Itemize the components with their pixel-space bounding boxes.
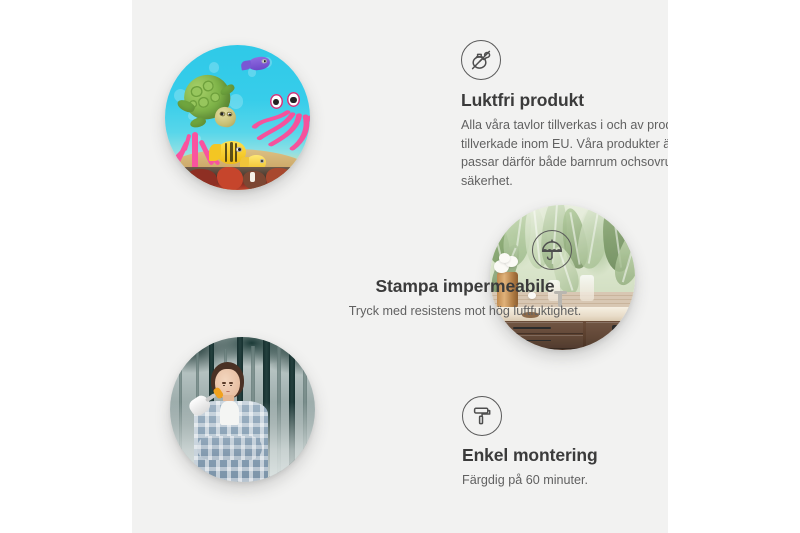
feature-title: Luktfri produkt [461,90,668,112]
forest-mural-photo [170,337,315,482]
octopus-figure [248,77,310,161]
feature-body: Färgdig på 60 minuter. [462,471,668,490]
infographic-canvas: Luktfri produkt Alla våra tavlor tillver… [0,0,800,533]
feature-body: Tryck med resistens mot hög luftfuktighe… [320,302,610,321]
feature-image-easy-mount [170,337,315,482]
feature-block-waterproof: Stampa impermeabile Tryck med resistens … [320,230,610,321]
no-fragrance-icon [461,40,501,80]
adjacent-artwork-sliver [182,167,298,190]
paint-roller-icon [462,396,502,436]
underwater-illustration [165,45,310,190]
woman-figure [190,362,271,482]
umbrella-icon [532,230,572,270]
feature-title: Stampa impermeabile [320,276,610,298]
content-panel: Luktfri produkt Alla våra tavlor tillver… [132,0,668,533]
feature-block-easy-mount: Enkel montering Färgdig på 60 minuter. [462,396,668,490]
feature-block-odourless: Luktfri produkt Alla våra tavlor tillver… [461,40,668,190]
feature-body: Alla våra tavlor tillverkas i och av pro… [461,116,668,191]
feature-title: Enkel montering [462,445,668,467]
feature-image-odourless [165,45,310,190]
